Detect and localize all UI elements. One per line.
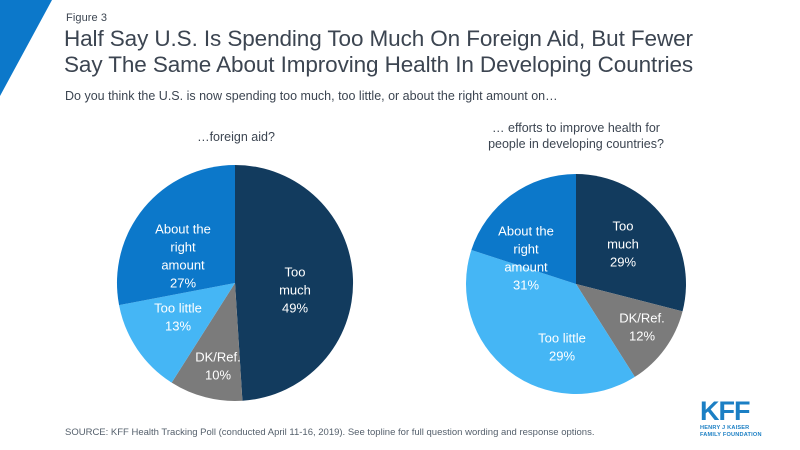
slice-value-too-little: 29%	[549, 348, 575, 363]
slice-value-about-right: 31%	[513, 277, 539, 292]
slice-value-dk-ref: 10%	[205, 367, 231, 382]
source-note: SOURCE: KFF Health Tracking Poll (conduc…	[65, 427, 594, 438]
slice-label-too-much-line-1: Too	[613, 218, 634, 233]
slice-label-about-right-line-1: About the	[498, 223, 554, 238]
chart-title-line-1: … efforts to improve health for	[456, 120, 696, 136]
slice-label-about-right-line-3: amount	[161, 257, 205, 272]
slice-value-too-much: 29%	[610, 254, 636, 269]
page-title-line-2: Say The Same About Improving Health In D…	[64, 52, 790, 78]
slice-label-too-much-line-2: much	[279, 282, 311, 297]
slice-label-dk-ref: DK/Ref.	[195, 349, 241, 364]
kff-logo-tagline-line-2: FAMILY FOUNDATION	[700, 432, 784, 439]
corner-wedge-decoration	[0, 0, 60, 100]
kff-logo: KFF HENRY J KAISER FAMILY FOUNDATION	[700, 398, 784, 440]
pie-chart-foreign-aid: Too much 49% About the right amount 27% …	[110, 158, 360, 408]
kff-logo-tagline: HENRY J KAISER FAMILY FOUNDATION	[700, 425, 784, 439]
chart-title-line-1: …foreign aid?	[116, 129, 356, 145]
pie-chart-global-health: Too much 29% About the right amount 31% …	[456, 164, 696, 404]
slice-label-about-right-line-2: right	[170, 239, 196, 254]
page-title-line-1: Half Say U.S. Is Spending Too Much On Fo…	[64, 26, 790, 52]
chart-title-global-health: … efforts to improve health for people i…	[456, 120, 696, 152]
slice-label-too-much-line-2: much	[607, 236, 639, 251]
slice-value-dk-ref: 12%	[629, 328, 655, 343]
chart-title-line-2: people in developing countries?	[456, 136, 696, 152]
slice-value-about-right: 27%	[170, 275, 196, 290]
slice-label-about-right-line-1: About the	[155, 221, 211, 236]
slice-label-too-little: Too little	[154, 300, 202, 315]
slice-value-too-little: 13%	[165, 318, 191, 333]
question-subtitle: Do you think the U.S. is now spending to…	[65, 89, 558, 103]
kff-logo-tagline-line-1: HENRY J KAISER	[700, 425, 784, 432]
slice-label-dk-ref: DK/Ref.	[619, 310, 665, 325]
slice-label-too-much-line-1: Too	[285, 264, 306, 279]
slice-label-about-right-line-3: amount	[504, 259, 548, 274]
slice-label-about-right-line-2: right	[513, 241, 539, 256]
slice-label-too-little: Too little	[538, 330, 586, 345]
chart-title-foreign-aid: …foreign aid?	[116, 129, 356, 145]
slice-value-too-much: 49%	[282, 300, 308, 315]
figure-label: Figure 3	[66, 12, 107, 24]
page-title: Half Say U.S. Is Spending Too Much On Fo…	[64, 26, 790, 78]
kff-logo-wordmark: KFF	[700, 398, 784, 425]
slide-canvas: Figure 3 Half Say U.S. Is Spending Too M…	[0, 0, 800, 450]
